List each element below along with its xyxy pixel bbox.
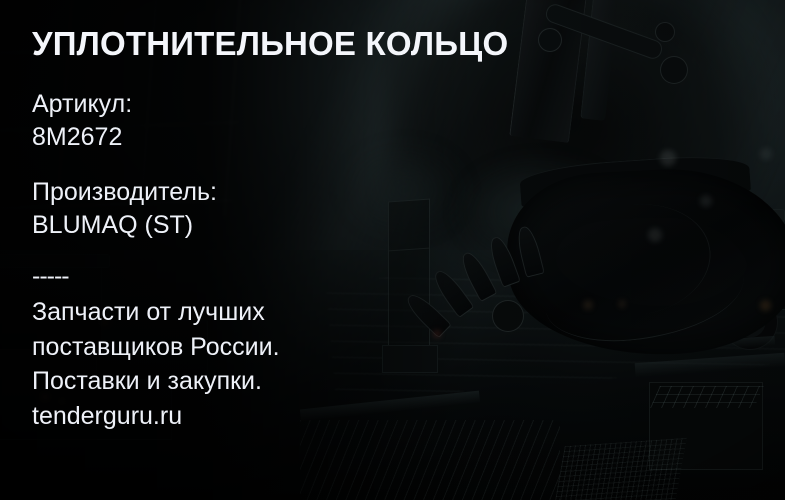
product-title: УПЛОТНИТЕЛЬНОЕ КОЛЬЦО (32, 26, 785, 62)
tagline-line-1: Запчасти от лучших (32, 295, 785, 330)
site-url: tenderguru.ru (32, 399, 785, 434)
tagline-line-2: поставщиков России. (32, 330, 785, 365)
tagline-block: Запчасти от лучших поставщиков России. П… (32, 295, 785, 433)
field-manufacturer: Производитель: BLUMAQ (ST) (32, 176, 785, 242)
tagline-line-3: Поставки и закупки. (32, 364, 785, 399)
section-divider: ----- (32, 264, 785, 289)
card-content: УПЛОТНИТЕЛЬНОЕ КОЛЬЦО Артикул: 8M2672 Пр… (0, 0, 785, 500)
field-manufacturer-value: BLUMAQ (ST) (32, 209, 785, 242)
field-article-label: Артикул: (32, 88, 785, 121)
field-article-value: 8M2672 (32, 121, 785, 154)
field-article: Артикул: 8M2672 (32, 88, 785, 154)
product-info-card: УПЛОТНИТЕЛЬНОЕ КОЛЬЦО Артикул: 8M2672 Пр… (0, 0, 785, 500)
field-manufacturer-label: Производитель: (32, 176, 785, 209)
